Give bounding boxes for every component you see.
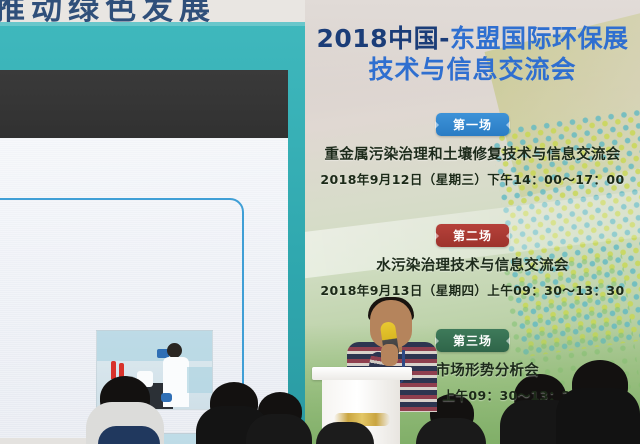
audience-person-2 [98,426,160,444]
session-block-1: 第一场 重金属污染治理和土壤修复技术与信息交流会 2018年9月12日（星期三）… [305,113,640,188]
session-2-title: 水污染治理技术与信息交流会 [305,254,640,275]
banner-title: 2018中国-东盟国际环保展 技术与信息交流会 [305,24,640,86]
banner-title-line2: 技术与信息交流会 [305,54,640,86]
session-3-badge: 第三场 [436,329,509,352]
session-1-date: 2018年9月12日（星期三）下午14：00～17：00 [305,169,640,188]
screen-teal-frame [0,22,305,434]
conference-photo: 推动绿色发展 [0,0,640,444]
session-1-title: 重金属污染治理和土壤修复技术与信息交流会 [305,143,640,164]
left-wall: 推动绿色发展 [0,0,312,444]
screen-bezel [0,70,288,138]
audience-person-6 [556,388,640,444]
speaker-hand [381,344,398,366]
podium-top-surface [312,367,412,380]
session-2-badge: 第二场 [436,224,509,247]
session-2-date: 2018年9月13日（星期四）上午09：30～13：30 [305,280,640,299]
banner-title-line1-part2: 东盟国际环保展 [450,24,629,53]
session-1-badge: 第一场 [436,113,509,136]
session-block-2: 第二场 水污染治理技术与信息交流会 2018年9月13日（星期四）上午09：30… [305,224,640,299]
banner-title-line1-part1: 2018中国- [317,24,450,53]
